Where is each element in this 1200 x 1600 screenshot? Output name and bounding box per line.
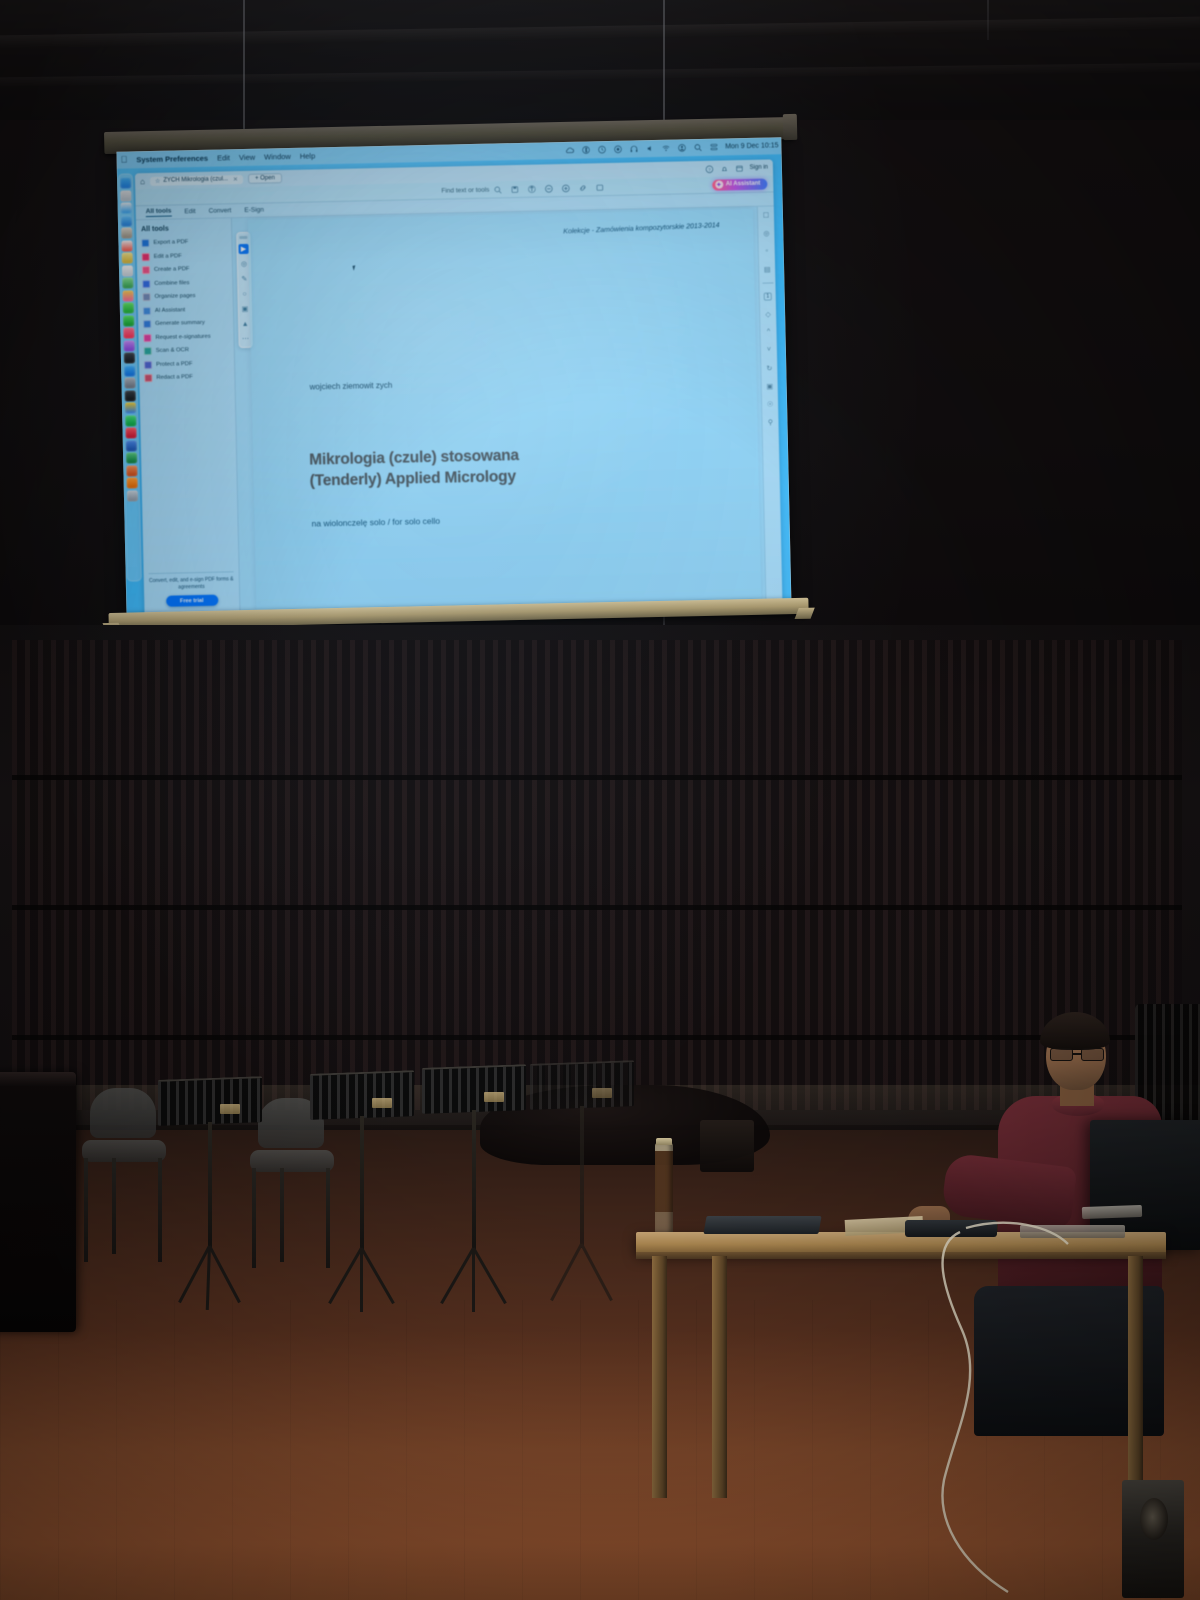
plus-icon: + [255, 176, 259, 182]
fullscreen-icon[interactable] [595, 183, 604, 192]
glasses-lens-left [1050, 1048, 1073, 1061]
projection-screen-surface:  System Preferences Edit View Window He… [116, 137, 791, 613]
find-placeholder: Find text or tools [441, 186, 489, 194]
tool-item-request-esignatures[interactable]: Request e-signatures [143, 332, 228, 342]
help-icon[interactable]: ? [704, 164, 713, 173]
tools-footer-text: Convert, edit, and e-sign PDF forms & ag… [149, 576, 234, 592]
laptop [703, 1216, 821, 1234]
table-leg [1128, 1256, 1143, 1498]
tool-label: Scan & OCR [156, 347, 189, 354]
sparkle-icon: ✦ [715, 181, 723, 189]
glasses-bridge [1073, 1053, 1081, 1055]
dock-icon-appstore[interactable] [124, 365, 135, 376]
macos-desktop:  System Preferences Edit View Window He… [116, 137, 791, 613]
dock-icon-facetime[interactable] [123, 315, 134, 326]
phone [1082, 1205, 1142, 1219]
apple-menu-icon[interactable]:  [121, 155, 128, 164]
music-stand-plate [592, 1088, 612, 1098]
document-subtitle: na wiolonczelę solo / for solo cello [311, 516, 440, 529]
water-bottle [655, 1142, 673, 1234]
slat-wall-band [12, 775, 1182, 780]
menubar-item-help[interactable]: Help [300, 151, 316, 160]
menubar-clock[interactable]: Mon 9 Dec 10:15 [725, 142, 778, 150]
pdf-page[interactable]: Kolekcje - Zamówienia kompozytorskie 201… [248, 209, 761, 611]
ai-assistant-button[interactable]: ✦ AI Assistant [712, 178, 768, 190]
bluetooth-icon[interactable] [581, 145, 590, 154]
tool-item-organize-pages[interactable]: Organize pages [143, 291, 228, 301]
dock-icon-chrome[interactable] [125, 402, 136, 413]
music-stand-desk [310, 1070, 414, 1120]
chair-leg [84, 1158, 88, 1262]
titlebar-right-cluster: ? Sign in [704, 163, 768, 173]
free-trial-button[interactable]: Free trial [166, 595, 218, 607]
headphones-icon[interactable] [629, 144, 638, 153]
search-icon[interactable] [493, 185, 502, 194]
combine-files-icon [142, 280, 150, 288]
chair-behind-table [700, 1120, 754, 1172]
upright-piano [0, 1072, 76, 1332]
dock-icon-mail[interactable] [121, 215, 132, 226]
tool-label: AI Assistant [155, 307, 185, 314]
music-stand-leg [472, 1248, 475, 1312]
search-icon[interactable] [693, 143, 702, 152]
find-icon[interactable]: ⚲ [766, 417, 775, 426]
music-stand-pole [360, 1116, 364, 1252]
acrobat-body: All tools Export a PDF Edit a PDF [136, 206, 782, 613]
music-stand-pole [208, 1122, 212, 1250]
dock-icon-terminal[interactable] [125, 390, 136, 401]
tool-item-generate-summary[interactable]: Generate summary [143, 318, 228, 328]
chair-leg [252, 1168, 256, 1268]
volume-icon[interactable] [645, 144, 654, 153]
table-leg [712, 1256, 727, 1498]
dock-icon-acrobat[interactable] [125, 427, 136, 438]
zoom-in-icon[interactable] [561, 183, 570, 192]
music-stand-plate [220, 1104, 240, 1114]
chair-seat [250, 1150, 334, 1172]
tool-label: Edit a PDF [154, 253, 182, 260]
bell-icon[interactable] [719, 164, 728, 173]
clock-icon[interactable] [597, 145, 606, 154]
dock-icon-word[interactable] [126, 440, 137, 451]
tab-esign[interactable]: E-Sign [244, 207, 264, 214]
lecture-hall-scene:  System Preferences Edit View Window He… [0, 0, 1200, 1600]
dock-icon-vlc[interactable] [127, 477, 138, 488]
dock-icon-excel[interactable] [126, 452, 137, 463]
music-stand-leg [360, 1248, 363, 1312]
adobe-acrobat-window: ⌂ ☆ ZYCH Mikrologia (czul... ✕ + Open [135, 159, 782, 613]
drag-handle[interactable] [239, 236, 247, 239]
tool-label: Request e-signatures [155, 333, 210, 340]
dock-icon-trash[interactable] [127, 490, 138, 501]
menubar-item-view[interactable]: View [239, 153, 255, 162]
zoom-out-icon[interactable] [544, 184, 553, 193]
slat-wall-band [12, 1035, 1182, 1040]
chair-leg [112, 1158, 116, 1254]
dock-icon-notes[interactable] [122, 252, 133, 263]
speaker-cone [1140, 1498, 1168, 1540]
music-stand-desk [422, 1064, 526, 1114]
more-options-icon[interactable]: ⋯ [240, 334, 250, 344]
tool-item-create-pdf[interactable]: Create a PDF [142, 264, 227, 274]
page-number-field[interactable]: 1 [763, 292, 772, 300]
tool-item-export-pdf[interactable]: Export a PDF [141, 237, 226, 247]
dock-icon-reminders[interactable] [122, 265, 133, 276]
music-stand-desk [158, 1076, 262, 1126]
organize-pages-icon [143, 293, 151, 301]
dock-icon-finder[interactable] [120, 177, 131, 188]
chair-leg [158, 1158, 162, 1262]
chair-leg [326, 1168, 330, 1268]
rotate-icon[interactable]: ↻ [765, 363, 774, 372]
dock-icon-tv[interactable] [124, 352, 135, 363]
ceiling-beam [0, 17, 1200, 49]
projection-screen-assembly:  System Preferences Edit View Window He… [104, 117, 805, 652]
document-author: wojciech ziemowit zych [310, 381, 393, 392]
music-stand-plate [372, 1098, 392, 1108]
tool-label: Protect a PDF [156, 361, 193, 368]
tool-label: Redact a PDF [156, 374, 193, 381]
tool-label: Generate summary [155, 320, 205, 327]
menubar-item-edit[interactable]: Edit [217, 153, 230, 162]
tool-item-ai-assistant[interactable]: AI Assistant [143, 305, 228, 315]
keyboard [1020, 1225, 1125, 1238]
save-icon[interactable] [510, 184, 519, 193]
display-icon[interactable] [613, 145, 622, 154]
tool-label: Combine files [154, 280, 189, 287]
text-cursor-icon [352, 265, 356, 271]
screen-housing-cap [783, 114, 798, 140]
dock-icon-powerpoint[interactable] [126, 465, 137, 476]
dock-icon-music[interactable] [123, 327, 134, 338]
rail-divider [762, 282, 773, 283]
tab-edit[interactable]: Edit [184, 208, 195, 215]
all-tools-panel: All tools Export a PDF Edit a PDF [136, 218, 241, 613]
control-center-icon[interactable] [709, 143, 718, 152]
close-icon[interactable]: ✕ [233, 176, 238, 183]
dock-icon-maps[interactable] [122, 277, 133, 288]
svg-text:?: ? [708, 167, 711, 172]
music-stand-pole [580, 1106, 584, 1248]
page-thumbnails-icon[interactable]: ▣ [765, 381, 774, 390]
document-title: Mikrologia (czule) stosowana (Tenderly) … [309, 441, 739, 492]
tab-convert[interactable]: Convert [209, 207, 232, 214]
tool-label: Create a PDF [154, 266, 190, 273]
create-pdf-icon [142, 266, 150, 274]
dock-icon-settings[interactable] [124, 377, 135, 388]
dock-icon-messages[interactable] [123, 302, 134, 313]
tool-label: Organize pages [155, 293, 196, 300]
music-stand-pole [472, 1110, 476, 1252]
document-tab[interactable]: ☆ ZYCH Mikrologia (czul... ✕ [150, 174, 243, 185]
scan-ocr-icon [144, 347, 152, 355]
wifi-icon[interactable] [661, 144, 670, 153]
generate-summary-icon [143, 320, 151, 328]
dock-icon-contacts[interactable] [121, 227, 132, 238]
chair-backrest [90, 1088, 156, 1138]
dock-icon-photos[interactable] [122, 290, 133, 301]
tab-all-tools[interactable]: All tools [146, 208, 172, 218]
dock-icon-spotify[interactable] [125, 415, 136, 426]
star-icon[interactable]: ☆ [155, 177, 161, 184]
open-file-label: Open [260, 175, 275, 181]
menubar-app-name[interactable]: System Preferences [136, 154, 208, 165]
add-image-icon[interactable]: ▣ [240, 304, 250, 314]
chair-seat [82, 1140, 166, 1162]
ceiling-wire [987, 0, 989, 40]
edit-pdf-icon [142, 253, 150, 261]
document-tab-title: ZYCH Mikrologia (czul... [163, 176, 228, 183]
tools-panel-footer: Convert, edit, and e-sign PDF forms & ag… [149, 571, 235, 607]
tool-item-combine-files[interactable]: Combine files [142, 278, 227, 288]
ceiling-beam-secondary [0, 63, 1200, 87]
fit-page-icon[interactable]: ☐ [761, 210, 770, 219]
user-icon[interactable] [677, 143, 686, 152]
tool-item-redact-pdf[interactable]: Redact a PDF [144, 372, 229, 382]
ai-assistant-icon [143, 307, 151, 315]
dock-icon-calendar[interactable] [121, 240, 132, 251]
ai-assistant-label: AI Assistant [726, 181, 761, 188]
protect-pdf-icon [144, 361, 152, 369]
export-pdf-icon [141, 239, 149, 247]
table-leg [652, 1256, 667, 1498]
comment-icon[interactable]: ○ [239, 289, 249, 299]
tool-item-protect-pdf[interactable]: Protect a PDF [144, 359, 229, 369]
tool-label: Export a PDF [153, 239, 188, 246]
share-user-icon[interactable]: ☉ [765, 399, 774, 408]
slat-wall-band [12, 905, 1182, 910]
draw-pen-icon[interactable]: ✎ [239, 274, 249, 284]
stamp-icon[interactable]: ▲ [240, 319, 250, 329]
request-esign-icon [143, 334, 151, 342]
comment-panel-icon[interactable]: ▫ [762, 246, 771, 255]
cloud-icon[interactable] [565, 146, 574, 155]
water-bottle-cap [656, 1138, 672, 1145]
link-icon[interactable] [578, 183, 587, 192]
dock-icon-safari[interactable] [121, 202, 132, 213]
chevron-up-icon[interactable]: ^ [764, 327, 773, 336]
open-file-button[interactable]: + Open [248, 173, 282, 184]
scroll-icon[interactable]: ◇ [764, 309, 773, 318]
menubar-item-window[interactable]: Window [264, 152, 291, 162]
search-panel-icon[interactable]: ◎ [762, 228, 771, 237]
audio-interface [905, 1220, 997, 1237]
home-icon[interactable]: ⌂ [140, 177, 145, 186]
document-running-header: Kolekcje - Zamówienia kompozytorskie 201… [563, 222, 720, 235]
select-cursor-icon[interactable]: ▶ [238, 244, 248, 254]
music-stand-plate [484, 1092, 504, 1102]
dock-icon-podcasts[interactable] [124, 340, 135, 351]
tool-item-edit-pdf[interactable]: Edit a PDF [142, 251, 227, 261]
all-tools-title: All tools [141, 224, 226, 233]
piano-lid [0, 1072, 76, 1086]
zoom-tool-icon[interactable]: ◎ [239, 259, 249, 269]
music-stand-desk [530, 1060, 634, 1110]
glasses-lens-right [1081, 1048, 1104, 1061]
redact-pdf-icon [144, 374, 152, 382]
chair-leg [280, 1168, 284, 1262]
copy-icon[interactable]: ▤ [763, 264, 772, 273]
chevron-down-icon[interactable]: ˅ [764, 345, 773, 354]
find-input[interactable]: Find text or tools [441, 185, 502, 195]
sign-in-link[interactable]: Sign in [750, 165, 768, 171]
document-viewer[interactable]: ▶ ◎ ✎ ○ ▣ ▲ ⋯ Kolekcje - Zamówienia kom [232, 207, 765, 611]
menubar-status-area: Mon 9 Dec 10:15 [565, 137, 779, 159]
share-icon[interactable] [527, 184, 536, 193]
projected-image:  System Preferences Edit View Window He… [116, 137, 791, 613]
window-icon[interactable] [734, 164, 743, 173]
glasses-icon [1050, 1048, 1106, 1061]
dock-icon-launchpad[interactable] [120, 190, 131, 201]
tool-item-scan-ocr[interactable]: Scan & OCR [144, 345, 229, 355]
